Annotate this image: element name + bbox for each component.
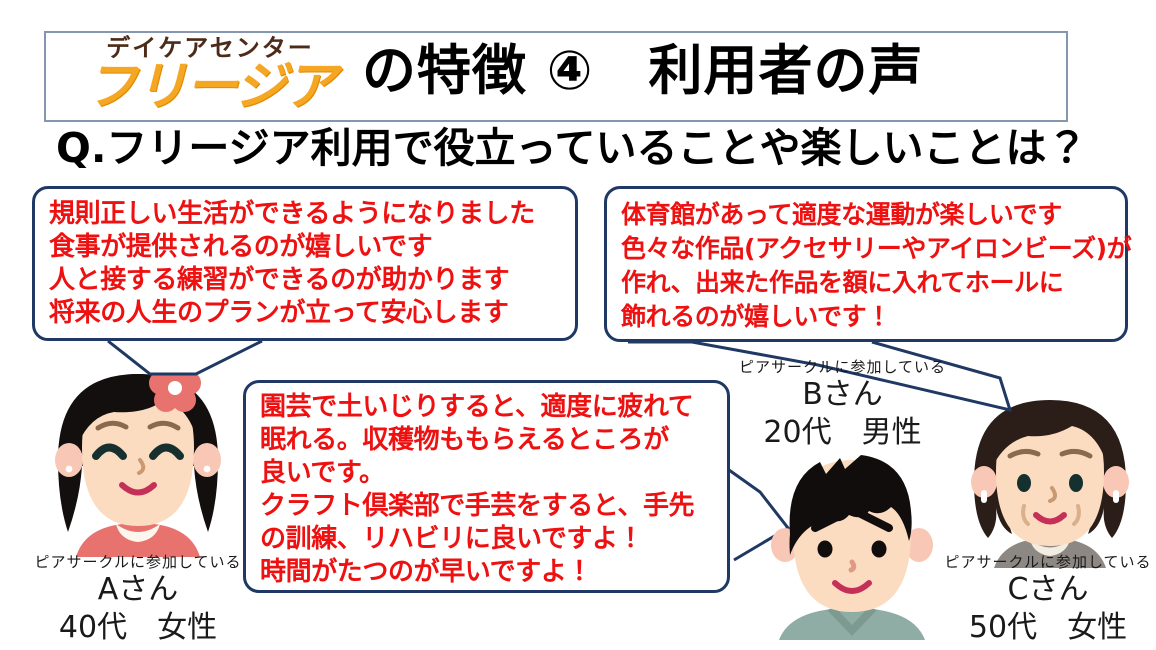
caption-person-c: ピアサークルに参加している Cさん 50代 女性 <box>938 553 1156 646</box>
avatar-person-b <box>757 440 947 640</box>
bubble-c-line-6: 時間がたつのが早いですよ！ <box>260 556 727 589</box>
bubble-b-line-1: 体育館があって適度な運動が楽しいです <box>621 198 1125 232</box>
bubble-c-line-5: の訓練、リハビリに良いですよ！ <box>260 523 727 556</box>
caption-a-pretext: ピアサークルに参加している <box>18 553 258 571</box>
caption-c-pretext: ピアサークルに参加している <box>938 553 1156 571</box>
caption-person-b: ピアサークルに参加している Bさん 20代 男性 <box>735 358 950 451</box>
bubble-b-line-4: 飾れるのが嬉しいです！ <box>621 300 1125 334</box>
slide-canvas: デイケアセンター フリージア の特徴 ④ 利用者の声 Q.フリージア利用で役立っ… <box>0 0 1156 650</box>
page-title: の特徴 ④ 利用者の声 <box>362 44 924 98</box>
speech-bubble-a: 規則正しい生活ができるようになりました 食事が提供されるのが嬉しいです 人と接す… <box>32 186 578 341</box>
question-text: Q.フリージア利用で役立っていることや楽しいことは？ <box>56 126 1088 171</box>
bubble-a-line-4: 将来の人生のプランが立って安心します <box>49 297 575 330</box>
bubble-c-line-4: クラフト倶楽部で手芸をすると、手先 <box>260 490 727 523</box>
avatar-person-a <box>36 352 241 557</box>
logo-wordmark: フリージア <box>60 60 360 115</box>
caption-c-meta: 50代 女性 <box>938 609 1156 647</box>
bubble-c-line-3: 良いです。 <box>260 457 727 490</box>
bubble-b-line-2: 色々な作品(アクセサリーやアイロンビーズ)が <box>621 232 1125 266</box>
caption-b-pretext: ピアサークルに参加している <box>735 358 950 376</box>
caption-c-name: Cさん <box>938 571 1156 609</box>
bubble-b-line-3: 作れ、出来た作品を額に入れてホールに <box>621 266 1125 300</box>
bubble-c-line-2: 眠れる。収穫物ももらえるところが <box>260 424 727 457</box>
bubble-c-line-1: 園芸で土いじりすると、適度に疲れて <box>260 391 727 424</box>
flower-hairclip-icon <box>149 361 201 412</box>
bubble-a-line-3: 人と接する練習ができるのが助かります <box>49 264 575 297</box>
bubble-a-line-2: 食事が提供されるのが嬉しいです <box>49 231 575 264</box>
caption-person-a: ピアサークルに参加している Aさん 40代 女性 <box>18 553 258 646</box>
speech-bubble-c: 園芸で土いじりすると、適度に疲れて 眠れる。収穫物ももらえるところが 良いです。… <box>243 380 730 593</box>
speech-bubble-b: 体育館があって適度な運動が楽しいです 色々な作品(アクセサリーやアイロンビーズ)… <box>604 186 1128 342</box>
caption-a-name: Aさん <box>18 571 258 609</box>
bubble-a-line-1: 規則正しい生活ができるようになりました <box>49 198 575 231</box>
caption-b-name: Bさん <box>735 376 950 414</box>
freesia-logo: デイケアセンター フリージア <box>60 32 360 122</box>
caption-a-meta: 40代 女性 <box>18 609 258 647</box>
avatar-person-c <box>952 382 1148 568</box>
caption-b-meta: 20代 男性 <box>735 414 950 452</box>
